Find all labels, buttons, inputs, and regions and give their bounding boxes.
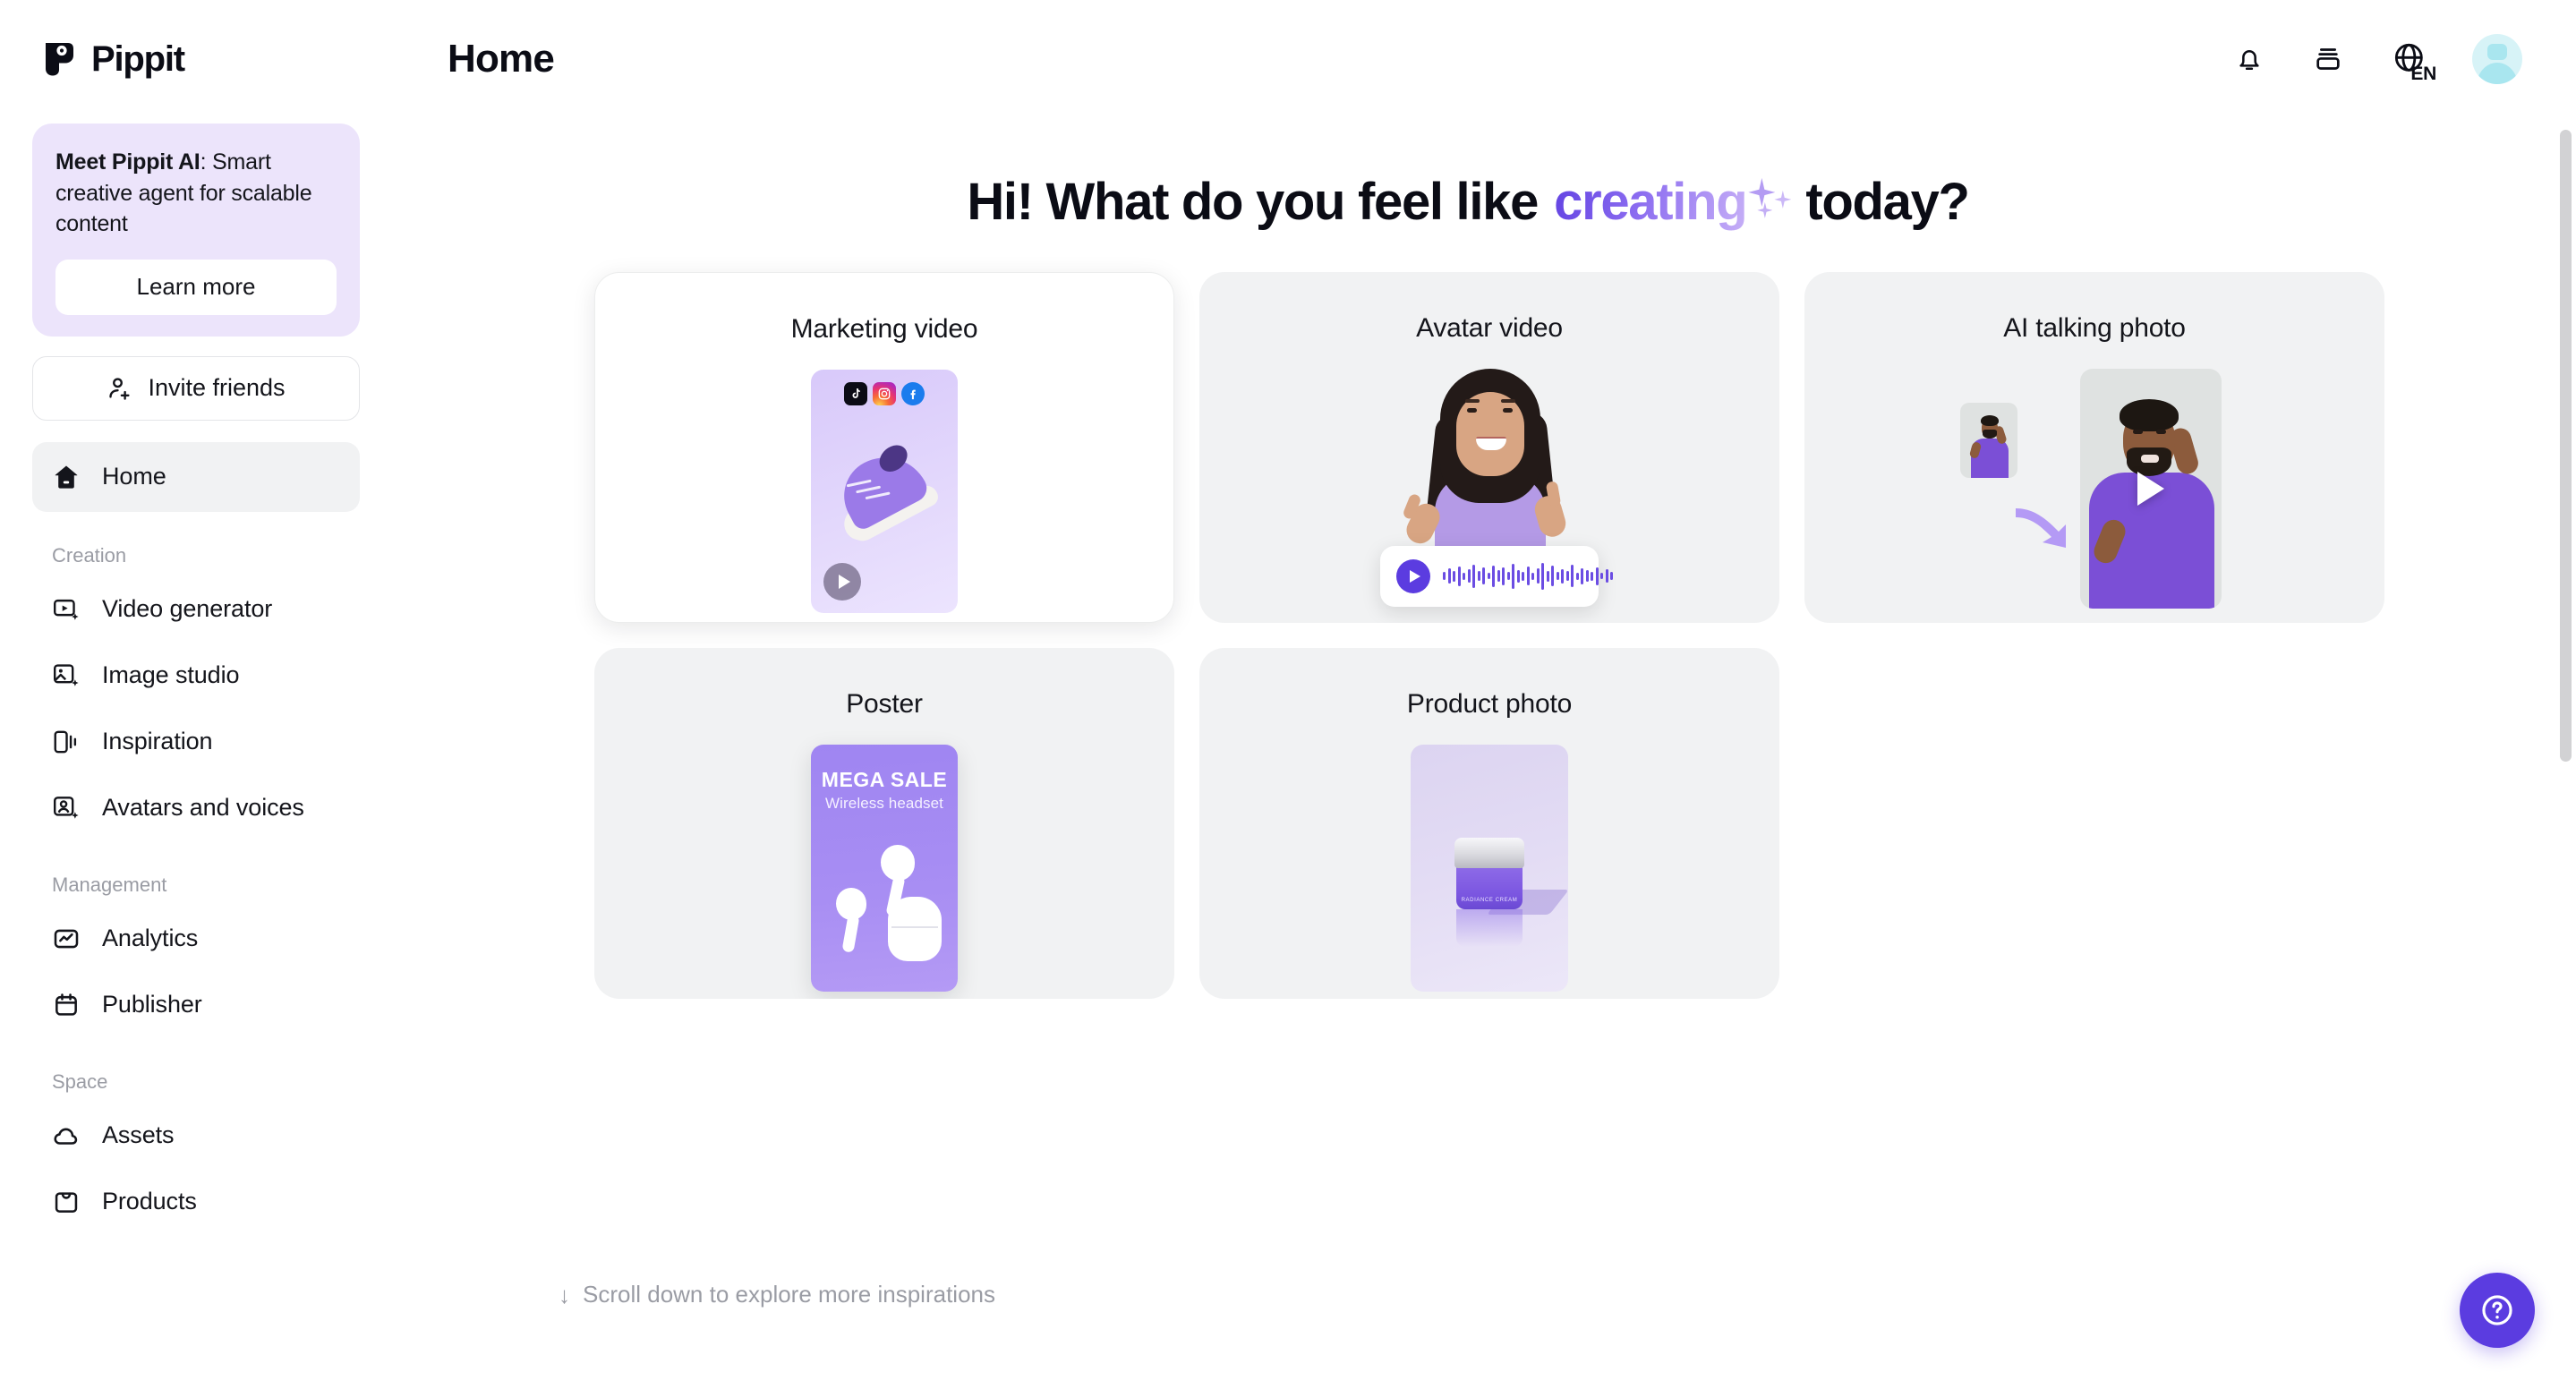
- scroll-hint-label: Scroll down to explore more inspirations: [583, 1281, 995, 1308]
- sidebar-item-home-label: Home: [102, 463, 166, 490]
- sidebar-group-creation: Video generator Image studio: [32, 576, 360, 841]
- source-photo-thumbnail: [1960, 403, 2017, 478]
- card-marketing-video-media: [811, 370, 958, 613]
- brand-logo[interactable]: Pippit: [32, 0, 360, 118]
- question-mark-icon: [2478, 1291, 2516, 1329]
- bag-icon: [52, 1188, 81, 1216]
- sidebar-item-avatars-and-voices[interactable]: Avatars and voices: [32, 775, 360, 841]
- help-button[interactable]: [2460, 1273, 2535, 1348]
- cosmetic-jar-body: RADIANCE CREAM: [1456, 865, 1523, 909]
- top-bar: Home: [392, 0, 2576, 118]
- tiktok-icon: [844, 382, 867, 405]
- notifications-button[interactable]: [2229, 38, 2270, 80]
- sidebar-item-inspiration[interactable]: Inspiration: [32, 709, 360, 775]
- curved-arrow-icon: [2012, 503, 2078, 555]
- promo-card: Meet Pippit AI: Smart creative agent for…: [32, 124, 360, 337]
- brand-name: Pippit: [91, 39, 184, 80]
- promo-title-bold: Meet Pippit AI: [55, 149, 200, 175]
- card-product-photo[interactable]: Product photo RADIANCE CREAM: [1199, 648, 1779, 999]
- jar-label: RADIANCE CREAM: [1462, 898, 1518, 903]
- invite-friends-label: Invite friends: [148, 374, 285, 402]
- video-sparkle-icon: [52, 595, 81, 624]
- card-marketing-video[interactable]: Marketing video: [594, 272, 1174, 623]
- analytics-icon: [52, 925, 81, 953]
- pippit-logo-icon: [43, 40, 79, 78]
- app-root: Pippit Meet Pippit AI: Smart creative ag…: [0, 0, 2576, 1389]
- calendar-icon: [52, 991, 81, 1019]
- audio-waveform-icon: [1443, 561, 1613, 592]
- sidebar-item-products-label: Products: [102, 1188, 197, 1215]
- sidebar-item-video-generator[interactable]: Video generator: [32, 576, 360, 643]
- card-product-photo-title: Product photo: [1199, 648, 1779, 720]
- card-poster-title: Poster: [594, 648, 1174, 720]
- avatar-body: [2477, 63, 2518, 84]
- sidebar-item-assets-label: Assets: [102, 1121, 174, 1149]
- sidebar-item-publisher-label: Publisher: [102, 991, 202, 1018]
- card-product-photo-media: RADIANCE CREAM: [1411, 745, 1568, 992]
- sidebar-item-inspiration-label: Inspiration: [102, 728, 212, 755]
- sidebar-group-space-label: Space: [32, 1070, 360, 1094]
- image-sparkle-icon: [52, 661, 81, 690]
- hero-text-before: Hi! What do you feel like: [967, 174, 1538, 231]
- scroll-hint[interactable]: ↓ Scroll down to explore more inspiratio…: [392, 1281, 2544, 1308]
- sidebar-group-space: Assets Products: [32, 1103, 360, 1235]
- scrollbar[interactable]: [2555, 0, 2576, 1389]
- home-icon: [52, 463, 81, 491]
- play-icon[interactable]: [823, 563, 861, 601]
- sidebar-item-image-studio-label: Image studio: [102, 661, 239, 689]
- facebook-icon: [901, 382, 925, 405]
- instagram-icon: [873, 382, 896, 405]
- avatar-person-image: [1404, 369, 1574, 575]
- sneaker-image: [815, 431, 956, 568]
- generated-video-thumbnail: [2080, 369, 2222, 609]
- sidebar-group-management: Analytics Publisher: [32, 906, 360, 1038]
- sidebar-item-analytics[interactable]: Analytics: [32, 906, 360, 972]
- scrollbar-thumb[interactable]: [2560, 130, 2572, 762]
- template-card-grid: Marketing video: [589, 272, 2379, 999]
- sidebar-item-avatars-and-voices-label: Avatars and voices: [102, 794, 304, 822]
- audio-player-bar: [1380, 546, 1599, 607]
- card-avatar-video[interactable]: Avatar video: [1199, 272, 1779, 623]
- workspace-button[interactable]: [2307, 38, 2349, 80]
- sidebar-item-video-generator-label: Video generator: [102, 595, 272, 623]
- layers-icon: [2313, 44, 2343, 74]
- sidebar: Pippit Meet Pippit AI: Smart creative ag…: [0, 0, 392, 1389]
- card-ai-talking-photo[interactable]: AI talking photo: [1804, 272, 2384, 623]
- sidebar-item-analytics-label: Analytics: [102, 925, 198, 952]
- hero-heading: Hi! What do you feel like creating today…: [967, 174, 1968, 231]
- cloud-icon: [52, 1121, 81, 1150]
- sparkle-icon: [1746, 176, 1798, 228]
- learn-more-button[interactable]: Learn more: [55, 260, 337, 315]
- hero-highlight: creating: [1538, 174, 1746, 231]
- card-avatar-video-title: Avatar video: [1199, 272, 1779, 344]
- main-content: Home: [392, 0, 2576, 1389]
- sidebar-item-products[interactable]: Products: [32, 1169, 360, 1235]
- sidebar-item-home[interactable]: Home: [32, 442, 360, 512]
- bell-icon: [2234, 44, 2265, 74]
- card-ai-talking-photo-media: [1960, 369, 2229, 612]
- avatar-head: [2487, 44, 2507, 60]
- sidebar-group-creation-label: Creation: [32, 544, 360, 567]
- scroll-down-icon: ↓: [559, 1283, 570, 1307]
- poster-subline: Wireless headset: [811, 795, 958, 813]
- play-icon[interactable]: [2137, 472, 2164, 506]
- invite-friends-button[interactable]: Invite friends: [32, 356, 360, 421]
- sidebar-group-management-label: Management: [32, 873, 360, 897]
- sidebar-item-assets[interactable]: Assets: [32, 1103, 360, 1169]
- promo-text: Meet Pippit AI: Smart creative agent for…: [55, 147, 337, 240]
- avatar[interactable]: [2472, 34, 2522, 84]
- card-poster[interactable]: Poster MEGA SALE Wireless headset: [594, 648, 1174, 999]
- sidebar-item-image-studio[interactable]: Image studio: [32, 643, 360, 709]
- inspiration-icon: [52, 728, 81, 756]
- avatar-sparkle-icon: [52, 794, 81, 822]
- social-icons-row: [844, 382, 925, 405]
- page-title: Home: [448, 37, 554, 81]
- card-marketing-video-title: Marketing video: [595, 273, 1173, 345]
- user-plus-icon: [107, 375, 133, 402]
- cosmetic-jar-lid: [1454, 838, 1524, 868]
- language-button[interactable]: EN: [2386, 38, 2435, 81]
- poster-headline: MEGA SALE: [811, 768, 958, 792]
- topbar-actions: EN: [2229, 34, 2522, 84]
- sidebar-item-publisher[interactable]: Publisher: [32, 972, 360, 1038]
- earbud-case-icon: [888, 897, 942, 961]
- play-icon[interactable]: [1396, 559, 1430, 593]
- sidebar-nav: Home Creation Video generator: [32, 442, 360, 1235]
- language-code: EN: [2410, 64, 2436, 83]
- card-ai-talking-photo-title: AI talking photo: [1804, 272, 2384, 344]
- hero-section: Hi! What do you feel like creating today…: [392, 174, 2576, 231]
- hero-text-after: today?: [1805, 174, 1968, 231]
- card-avatar-video-media: [1355, 369, 1624, 607]
- card-poster-media: MEGA SALE Wireless headset: [811, 745, 958, 992]
